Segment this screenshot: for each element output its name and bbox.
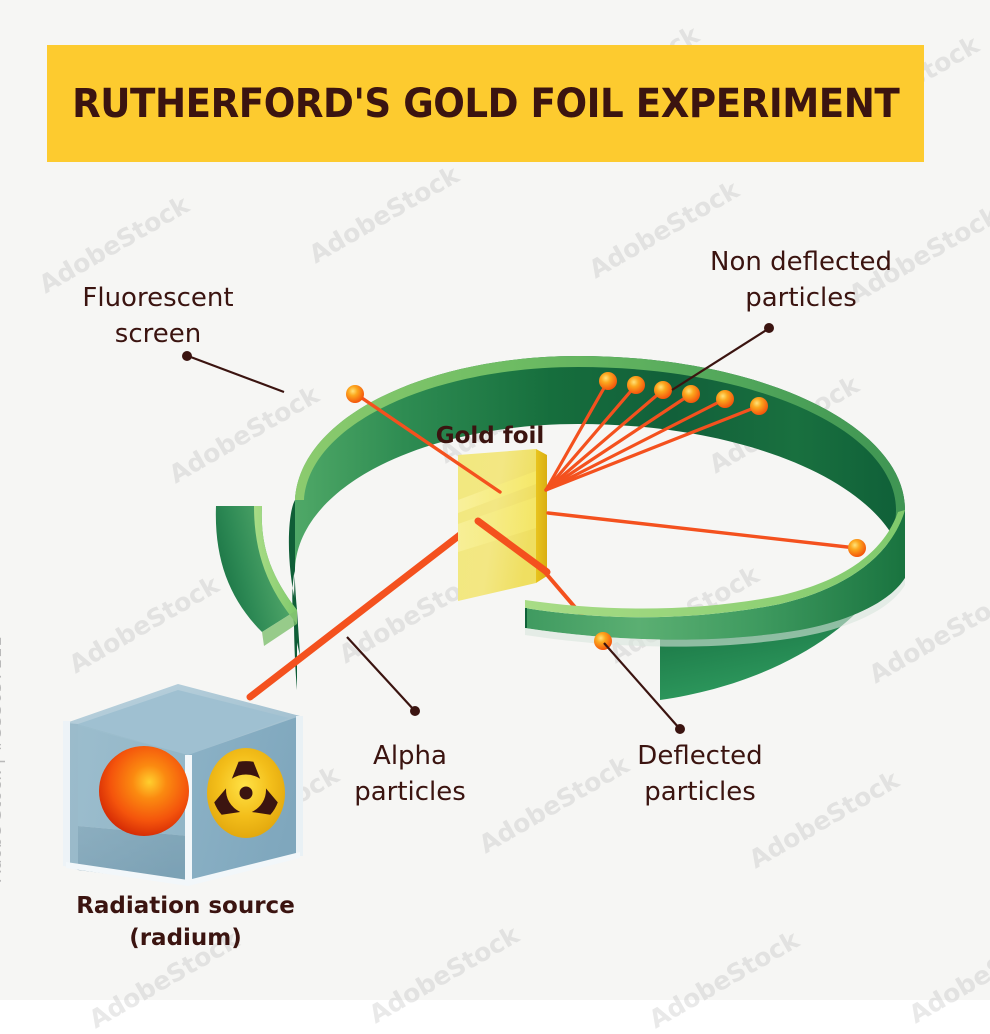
particle-non-deflected: [682, 385, 700, 403]
trefoil-center: [240, 787, 253, 800]
source-box-left-edge: [63, 721, 70, 867]
particle-non-deflected: [599, 372, 617, 390]
diagram-canvas: AdobeStock AdobeStock AdobeStock AdobeSt…: [0, 0, 990, 1000]
particle-deflected-left: [346, 385, 364, 403]
beam-deflected-right: [548, 513, 856, 548]
label-deflected-particles: Deflected particles: [595, 738, 805, 810]
particle-deflected-lower: [594, 632, 612, 650]
leader-alpha-particles: [347, 637, 414, 710]
screen-ring-front: [216, 500, 905, 700]
title-banner: RUTHERFORD'S GOLD FOIL EXPERIMENT: [47, 45, 924, 162]
screen-band-lower-left-end: [525, 608, 527, 628]
label-gold-foil: Gold foil: [400, 418, 580, 454]
source-box-corner-edge: [185, 755, 192, 884]
radiation-trefoil-symbol: [207, 748, 285, 838]
label-alpha-particles: Alpha particles: [315, 738, 505, 810]
page-title: RUTHERFORD'S GOLD FOIL EXPERIMENT: [72, 81, 899, 127]
label-non-deflected-particles: Non deflected particles: [676, 244, 926, 316]
leader-dot-deflected-particles: [675, 724, 685, 734]
label-radiation-source: Radiation source (radium): [48, 890, 323, 954]
source-box-right-edge: [296, 716, 303, 856]
leader-dot-alpha-particles: [410, 706, 420, 716]
particle-non-deflected: [627, 376, 645, 394]
leader-fluorescent-screen: [188, 356, 284, 392]
leader-dot-fluorescent-screen: [182, 351, 192, 361]
stock-watermark-id: Adobe Stock | #353657111: [0, 636, 6, 882]
particle-non-deflected: [716, 390, 734, 408]
radiation-source-box: [63, 684, 303, 886]
label-fluorescent-screen: Fluorescent screen: [48, 280, 268, 352]
particle-non-deflected: [654, 381, 672, 399]
leader-dot-non-deflected: [764, 323, 774, 333]
radium-sphere: [99, 746, 189, 836]
particle-non-deflected: [750, 397, 768, 415]
particle-deflected-right: [848, 539, 866, 557]
